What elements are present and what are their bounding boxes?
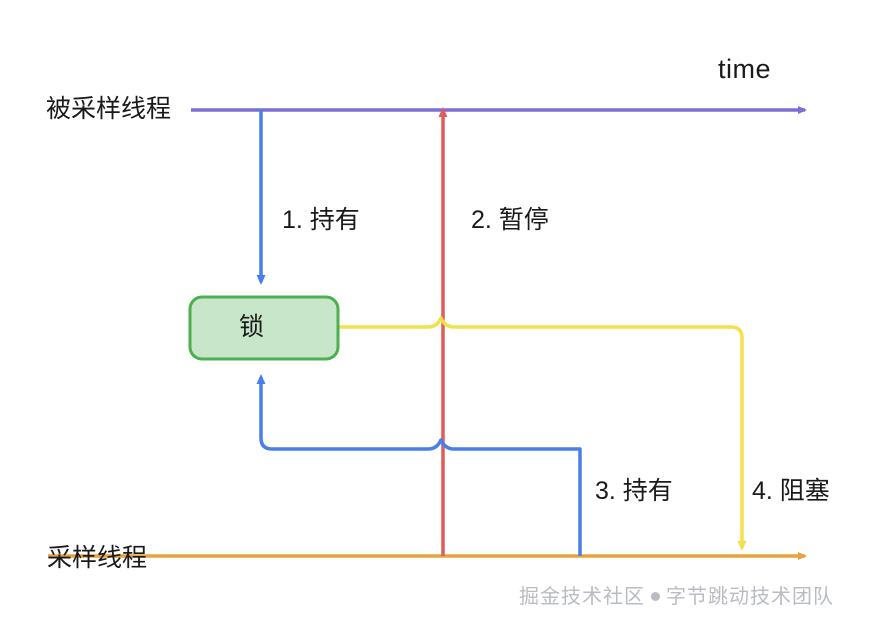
watermark-right-text: 字节跳动技术团队 (666, 586, 834, 608)
step4-block-arrow (338, 318, 742, 548)
sampling-thread-label: 采样线程 (47, 546, 147, 571)
sequence-diagram (0, 0, 894, 624)
lock-box-label: 锁 (239, 315, 264, 340)
watermark: 掘金技术社区字节跳动技术团队 (519, 587, 834, 607)
step4-label: 4. 阻塞 (752, 479, 830, 504)
step1-label: 1. 持有 (282, 208, 360, 233)
time-axis-label: time (718, 56, 771, 83)
watermark-dot-icon (651, 592, 660, 601)
watermark-left-text: 掘金技术社区 (519, 586, 645, 608)
sampled-thread-label: 被采样线程 (46, 97, 171, 122)
step2-label: 2. 暂停 (471, 208, 549, 233)
step3-label: 3. 持有 (595, 479, 673, 504)
step3-hold-arrow (261, 377, 580, 556)
